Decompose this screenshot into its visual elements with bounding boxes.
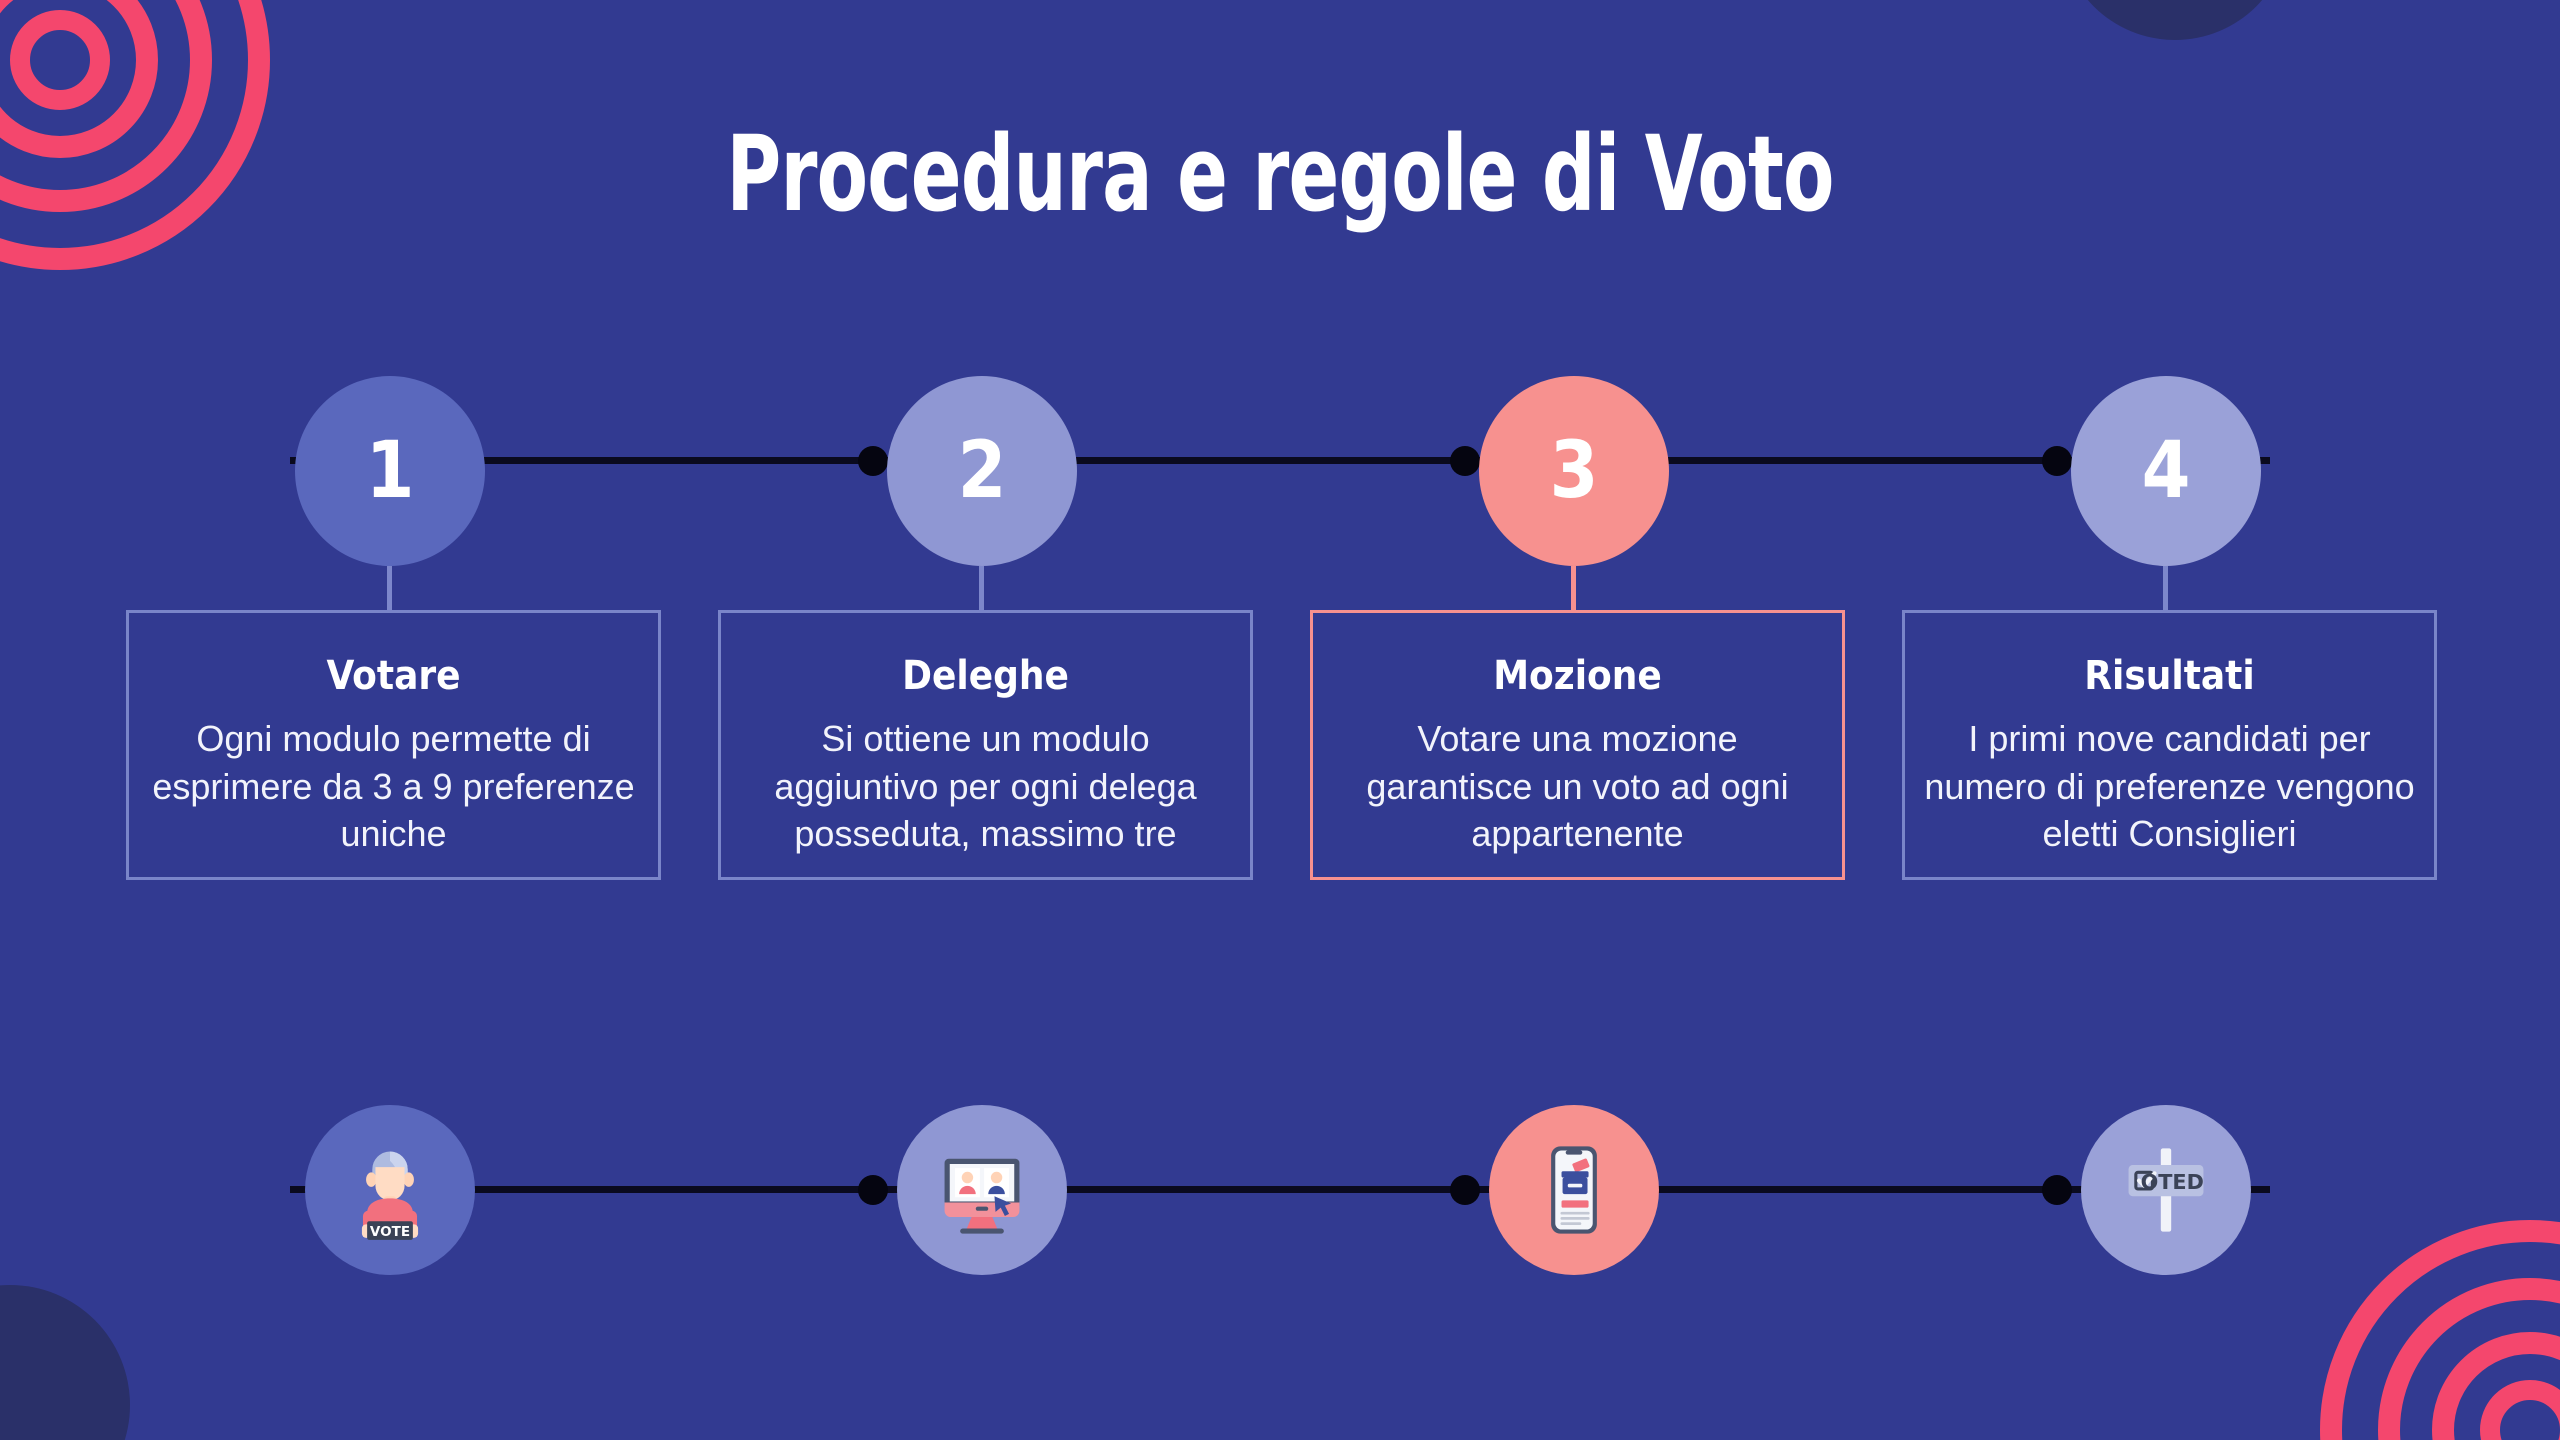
step-card-body-4: I primi nove candidati per numero di pre… — [1905, 715, 2434, 858]
step-card-1[interactable]: Votare Ogni modulo permette di esprimere… — [126, 610, 661, 880]
step-card-title-3: Mozione — [1313, 653, 1842, 699]
step-card-body-3: Votare una mozione garantisce un voto ad… — [1313, 715, 1842, 858]
monitor-candidates-cursor-icon — [930, 1138, 1034, 1242]
step-number-3: 3 — [1550, 426, 1599, 516]
timeline-node-dot-bottom-1 — [858, 1175, 888, 1205]
timeline-node-dot-bottom-2 — [1450, 1175, 1480, 1205]
step-card-2[interactable]: Deleghe Si ottiene un modulo aggiuntivo … — [718, 610, 1253, 880]
step-card-title-2: Deleghe — [721, 653, 1250, 699]
step-circle-2[interactable]: 2 — [887, 376, 1077, 566]
timeline-connector-bottom — [290, 1186, 2270, 1193]
stem-2 — [979, 566, 984, 611]
person-vote-sign-icon: VOTE — [338, 1138, 442, 1242]
step-number-4: 4 — [2142, 426, 2191, 516]
stem-1 — [387, 566, 392, 611]
step-card-title-1: Votare — [129, 653, 658, 699]
timeline-connector-top — [290, 457, 2270, 464]
icon-circle-1[interactable]: VOTE — [305, 1105, 475, 1275]
timeline-node-dot-top-3 — [2042, 446, 2072, 476]
slide-canvas: Procedura e regole di Voto 1 2 3 4 Votar… — [0, 0, 2560, 1440]
icon-circle-3[interactable] — [1489, 1105, 1659, 1275]
page-title: Procedura e regole di Voto — [256, 120, 2304, 229]
navy-circle-top-right-decoration — [2060, 0, 2290, 40]
voted-signpost-icon: OTED — [2114, 1138, 2218, 1242]
svg-text:VOTE: VOTE — [370, 1224, 410, 1240]
step-card-body-1: Ogni modulo permette di esprimere da 3 a… — [129, 715, 658, 858]
timeline-node-dot-top-1 — [858, 446, 888, 476]
step-number-1: 1 — [366, 426, 415, 516]
navy-circle-bottom-left-decoration — [0, 1285, 130, 1440]
timeline-node-dot-top-2 — [1450, 446, 1480, 476]
timeline-node-dot-bottom-3 — [2042, 1175, 2072, 1205]
step-number-2: 2 — [958, 426, 1007, 516]
icon-circle-2[interactable] — [897, 1105, 1067, 1275]
stem-3 — [1571, 566, 1576, 611]
svg-text:OTED: OTED — [2141, 1170, 2204, 1194]
step-card-4[interactable]: Risultati I primi nove candidati per num… — [1902, 610, 2437, 880]
step-circle-3[interactable]: 3 — [1479, 376, 1669, 566]
step-card-title-4: Risultati — [1905, 653, 2434, 699]
step-circle-4[interactable]: 4 — [2071, 376, 2261, 566]
concentric-rings-top-left-decoration — [0, 0, 270, 270]
icon-circle-4[interactable]: OTED — [2081, 1105, 2251, 1275]
concentric-rings-bottom-right-decoration — [2320, 1220, 2560, 1440]
stem-4 — [2163, 566, 2168, 611]
step-circle-1[interactable]: 1 — [295, 376, 485, 566]
step-card-body-2: Si ottiene un modulo aggiuntivo per ogni… — [721, 715, 1250, 858]
smartphone-ballot-box-icon — [1522, 1138, 1626, 1242]
step-card-3[interactable]: Mozione Votare una mozione garantisce un… — [1310, 610, 1845, 880]
